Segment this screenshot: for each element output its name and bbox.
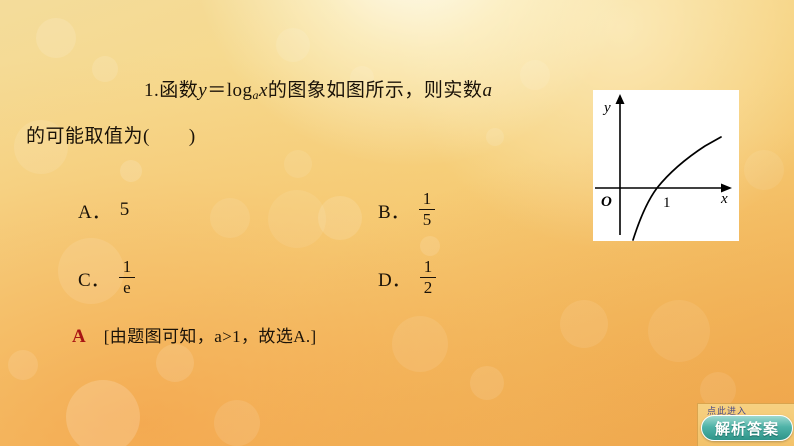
bokeh-circle (560, 300, 608, 348)
goto-answer-button-label: 解析答案 (715, 418, 779, 439)
option-b-numerator: 1 (419, 190, 436, 209)
bokeh-circle (284, 150, 312, 178)
bokeh-circle (214, 400, 260, 446)
option-c-fraction: 1 e (119, 258, 136, 297)
option-d[interactable]: D． 1 2 (378, 252, 548, 304)
bokeh-circle (276, 28, 310, 62)
bokeh-circle (392, 316, 448, 372)
formula-variable-y: y (198, 80, 207, 101)
answer-key: A (72, 326, 86, 348)
option-b[interactable]: B． 1 5 (378, 184, 548, 236)
question-text-prefix: 函数 (159, 80, 198, 101)
bokeh-circle (66, 380, 140, 446)
bokeh-circle (36, 18, 76, 58)
option-c-numerator: 1 (119, 258, 136, 277)
question-line-2: 的可能取值为( ) (26, 122, 586, 152)
question-block: 1.函数y＝logax的图象如图所示，则实数a 的可能取值为( ) (26, 76, 586, 152)
option-b-label: B． (378, 197, 410, 224)
graph-figure: O 1 y x (593, 90, 739, 241)
goto-answer-widget[interactable]: 点此进入 解析答案 (698, 400, 794, 446)
question-line-1: 1.函数y＝logax的图象如图所示，则实数a (26, 76, 586, 110)
option-d-fraction: 1 2 (420, 258, 437, 297)
options-row-top: A． 5 B． 1 5 (78, 184, 548, 252)
bokeh-circle (156, 344, 194, 382)
answer-line: A [由题图可知，a>1，故选A.] (72, 322, 317, 348)
formula-equals-log: ＝log (207, 80, 252, 101)
option-a-label: A． (78, 197, 111, 224)
bokeh-circle (470, 366, 504, 400)
option-c[interactable]: C． 1 e (78, 252, 378, 304)
graph-svg: O 1 y x (593, 90, 739, 241)
y-axis-label: y (602, 100, 611, 116)
option-d-numerator: 1 (420, 258, 437, 277)
question-number: 1. (144, 80, 159, 101)
bokeh-circle (744, 150, 784, 190)
option-d-denominator: 2 (420, 278, 437, 297)
option-d-label: D． (378, 265, 411, 292)
x-tick-label-1: 1 (663, 195, 671, 211)
bokeh-circle (120, 160, 142, 182)
option-a[interactable]: A． 5 (78, 184, 378, 236)
option-a-value: 5 (120, 199, 130, 221)
option-b-denominator: 5 (419, 210, 436, 229)
goto-answer-button[interactable]: 解析答案 (701, 415, 793, 441)
origin-label: O (601, 194, 612, 210)
option-b-fraction: 1 5 (419, 190, 436, 229)
options-row-bottom: C． 1 e D． 1 2 (78, 252, 548, 320)
x-axis-label: x (720, 191, 728, 207)
slide-canvas: 1.函数y＝logax的图象如图所示，则实数a 的可能取值为( ) A． 5 B… (0, 0, 794, 446)
question-variable-a: a (482, 80, 492, 101)
y-axis-arrow-icon (616, 94, 625, 104)
bokeh-circle (8, 350, 38, 380)
option-c-label: C． (78, 265, 110, 292)
option-c-denominator: e (119, 278, 136, 297)
answer-explanation: [由题图可知，a>1，故选A.] (104, 322, 317, 347)
bokeh-circle (648, 300, 710, 362)
question-text-suffix: 的图象如图所示，则实数 (268, 80, 483, 101)
options-list: A． 5 B． 1 5 C． 1 e (78, 184, 548, 320)
formula-argument-x: x (259, 80, 268, 101)
